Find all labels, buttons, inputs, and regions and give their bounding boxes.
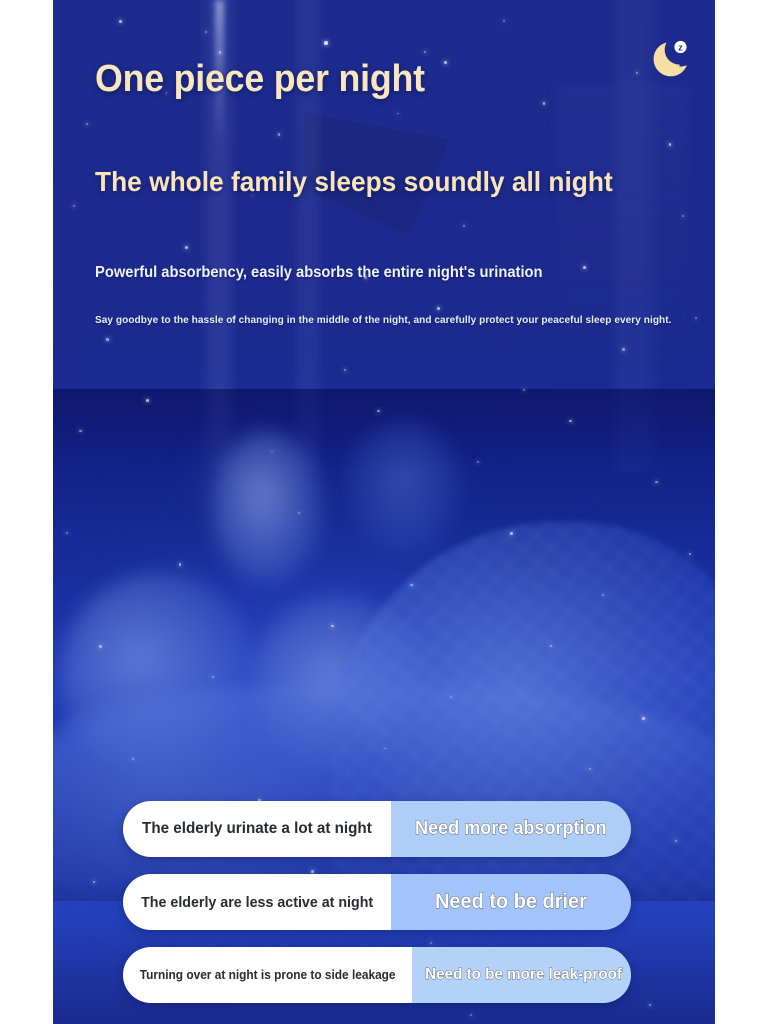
benefit-pill-row[interactable]: Turning over at night is prone to side l…: [123, 947, 631, 1003]
svg-text:z: z: [678, 42, 683, 53]
pill-solution-label: Need to be more leak-proof: [425, 966, 622, 984]
page-subtitle: The whole family sleeps soundly all nigh…: [95, 166, 613, 198]
pill-solution-label: Need to be drier: [435, 890, 587, 914]
poster-panel: z One piece per night The whole family s…: [53, 0, 715, 1024]
benefit-pill-list: The elderly urinate a lot at night Need …: [123, 801, 631, 1020]
benefit-pill-row[interactable]: The elderly urinate a lot at night Need …: [123, 801, 631, 857]
pill-solution-side: Need more absorption: [391, 801, 631, 857]
pill-problem-side: The elderly urinate a lot at night: [123, 801, 391, 857]
crescent-moon-sleep-icon: z: [645, 34, 693, 82]
benefit-pill-row[interactable]: The elderly are less active at night Nee…: [123, 874, 631, 930]
pill-solution-label: Need more absorption: [415, 818, 607, 840]
lead-text: Powerful absorbency, easily absorbs the …: [95, 264, 543, 282]
pill-problem-side: Turning over at night is prone to side l…: [123, 947, 412, 1003]
pill-problem-label: Turning over at night is prone to side l…: [140, 968, 396, 982]
pill-solution-side: Need to be drier: [391, 874, 631, 930]
note-text: Say goodbye to the hassle of changing in…: [95, 314, 671, 326]
pill-solution-side: Need to be more leak-proof: [412, 947, 631, 1003]
pill-problem-label: The elderly urinate a lot at night: [142, 820, 372, 838]
pill-problem-side: The elderly are less active at night: [123, 874, 391, 930]
poster-page: z One piece per night The whole family s…: [0, 0, 768, 1024]
pill-problem-label: The elderly are less active at night: [141, 894, 373, 911]
page-title: One piece per night: [95, 58, 425, 101]
